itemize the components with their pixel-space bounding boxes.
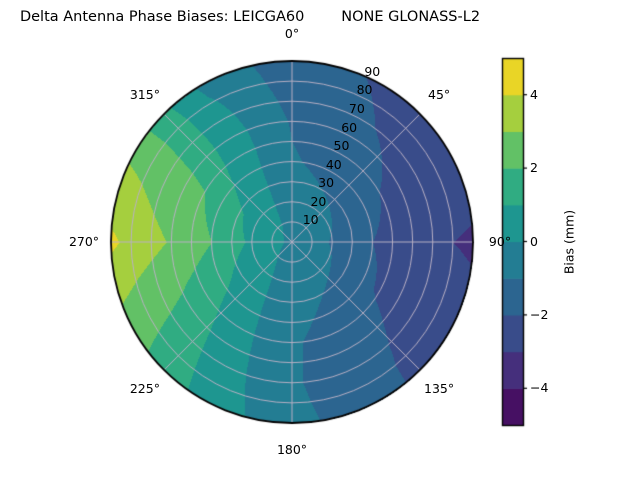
figure-canvas-area: Delta Antenna Phase Biases: LEICGA60 NON… xyxy=(0,0,640,480)
polar-contour-plot xyxy=(0,0,640,480)
